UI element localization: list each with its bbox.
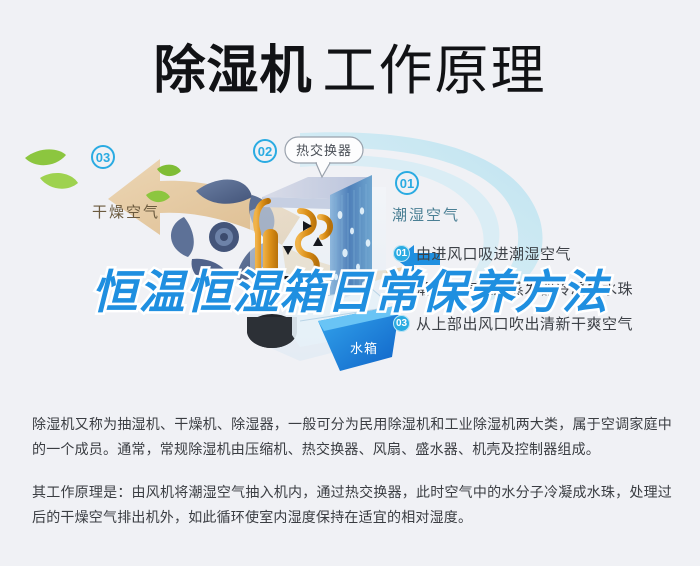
water-tank-label: 水箱 xyxy=(350,341,378,356)
paragraph: 除湿机又称为抽湿机、干燥机、除湿器，一般可分为民用除湿机和工业除湿机两大类，属于… xyxy=(32,412,672,462)
humid-air-number: 01 xyxy=(400,176,414,191)
label-heat-exchanger: 02 热交换器 xyxy=(254,137,363,177)
article-body: 除湿机又称为抽湿机、干燥机、除湿器，一般可分为民用除湿机和工业除湿机两大类，属于… xyxy=(32,412,672,530)
page-root: 除湿机工作原理 xyxy=(0,0,700,566)
dry-air-number: 03 xyxy=(96,150,110,165)
humid-air-label: 潮湿空气 xyxy=(392,207,460,224)
paragraph: 其工作原理是：由风机将潮湿空气抽入机内，通过热交换器，此时空气中的水分子冷凝成水… xyxy=(32,480,672,530)
heat-exchanger-number: 02 xyxy=(258,144,272,159)
dry-air-label: 干燥空气 xyxy=(92,204,160,221)
heat-exchanger-label: 热交换器 xyxy=(296,143,352,158)
title-secondary: 工作原理 xyxy=(323,41,547,101)
watermark-overlay: 恒温恒湿箱日常保养方法 xyxy=(0,256,700,322)
watermark-text: 恒温恒湿箱日常保养方法 xyxy=(92,256,609,322)
title-primary: 除湿机 xyxy=(153,42,312,100)
page-title: 除湿机工作原理 xyxy=(0,26,700,105)
